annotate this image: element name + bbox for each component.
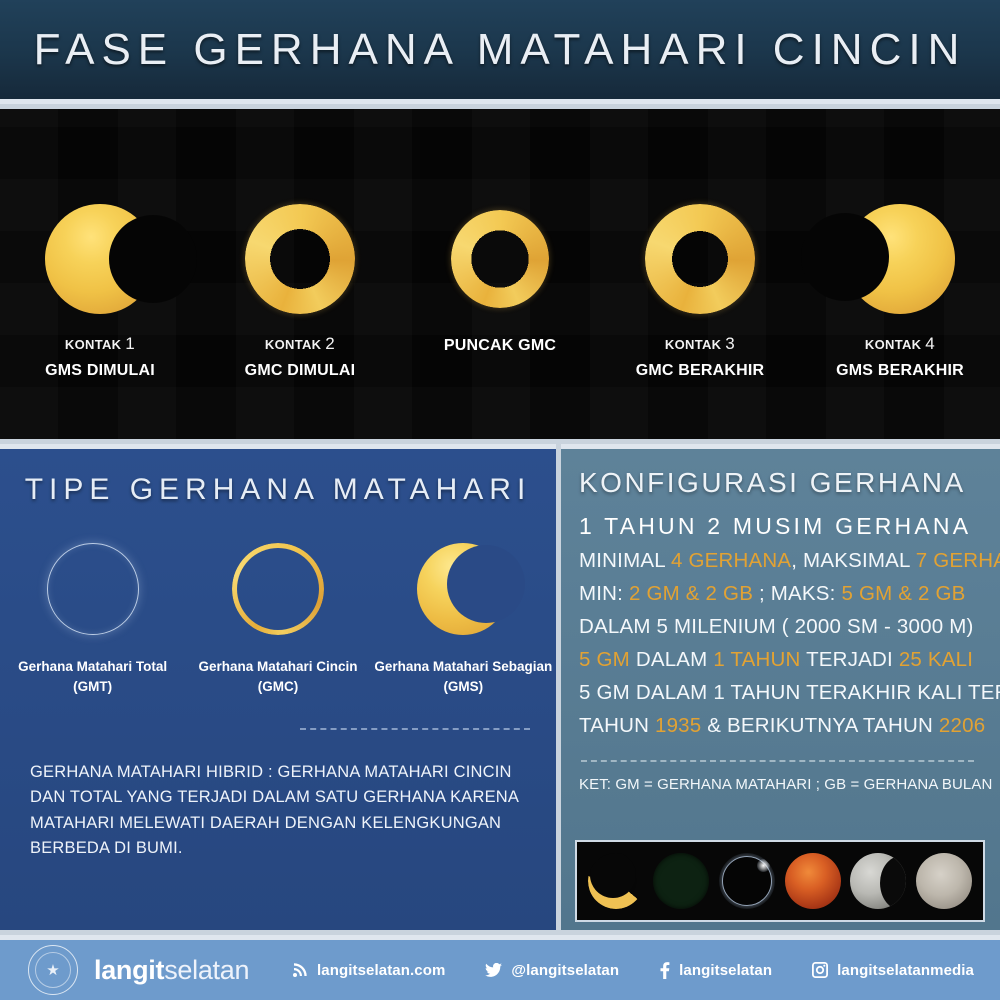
left-panel-divider (300, 728, 530, 730)
hybrid-eclipse-note: GERHANA MATAHARI HIBRID : GERHANA MATAHA… (30, 760, 530, 862)
thumbnail-annular-solar-ring (653, 853, 709, 909)
gold-ring-icon (232, 543, 324, 635)
phase-kontak-label: KONTAK (665, 337, 721, 352)
eclipse-configuration-panel: KONFIGURASI GERHANA 1 TAHUN 2 MUSIM GERH… (561, 444, 1000, 930)
thumbnail-full-moon (916, 853, 972, 909)
text-part: & BERIKUTNYA TAHUN (701, 714, 939, 737)
text-part: DALAM (630, 648, 713, 671)
phase-item-5: KONTAK 4 GMS BERAKHIR (800, 109, 1000, 439)
phase-name: GMS BERAKHIR (836, 359, 964, 382)
eclipse-types-list: Gerhana Matahari Total (GMT) Gerhana Mat… (0, 543, 556, 698)
text-part: TERJADI (801, 648, 899, 671)
phase-number: 1 (125, 334, 135, 353)
eclipse-type-abbr: (GMC) (198, 677, 357, 697)
social-link-twitter[interactable]: @langitselatan (485, 962, 619, 979)
annular-ring-thick-icon (245, 204, 355, 314)
gold-crescent-icon (417, 543, 509, 635)
footer-bar: ★ langitselatan langitselatan.com @langi… (0, 935, 1000, 1000)
highlight-value: 2206 (939, 714, 985, 737)
config-line-min-max-eclipses: MINIMAL 4 GERHANA, MAKSIMAL 7 GERHANA (579, 549, 1000, 573)
eclipse-types-panel: TIPE GERHANA MATAHARI Gerhana Matahari T… (0, 444, 556, 930)
social-label: langitselatan.com (317, 962, 445, 979)
eclipse-type-name: Gerhana Matahari Cincin (198, 657, 357, 677)
seal-inner-emblem: ★ (35, 952, 71, 988)
phase-item-3: PUNCAK GMC (400, 109, 600, 439)
highlight-value: 5 GM & 2 GB (841, 582, 965, 605)
highlight-value: 5 GM (579, 648, 630, 671)
facebook-icon (659, 962, 670, 979)
social-link-facebook[interactable]: langitselatan (659, 962, 772, 979)
eclipse-type-gmc: Gerhana Matahari Cincin (GMC) (185, 543, 370, 698)
annular-ring-thin-icon (445, 204, 555, 314)
eclipse-types-title: TIPE GERHANA MATAHARI (0, 473, 556, 507)
config-line-last-occurrence: 5 GM DALAM 1 TAHUN TERAKHIR KALI TERJADI (579, 681, 1000, 705)
header-bar: FASE GERHANA MATAHARI CINCIN (0, 0, 1000, 104)
annular-ring-offset-icon (645, 204, 755, 314)
phase-kontak-label: KONTAK (865, 337, 921, 352)
page-title: FASE GERHANA MATAHARI CINCIN (34, 25, 967, 75)
thumbnail-total-solar-diamond-ring (719, 853, 775, 909)
highlight-value: 25 KALI (899, 648, 973, 671)
social-link-website[interactable]: langitselatan.com (292, 962, 445, 979)
social-label: langitselatan (679, 962, 772, 979)
text-part: ; MAKS: (753, 582, 841, 605)
eclipse-type-name: Gerhana Matahari Total (18, 657, 167, 677)
highlight-value: 2 GM & 2 GB (629, 582, 753, 605)
eclipse-type-abbr: (GMS) (374, 677, 552, 697)
twitter-icon (485, 963, 502, 978)
eclipse-type-abbr: (GMT) (18, 677, 167, 697)
sun-partial-bite-right-icon (45, 204, 155, 314)
eclipse-phases-section: KONTAK 1 GMS DIMULAI KONTAK 2 GMC DIMULA… (0, 109, 1000, 439)
config-line-millennium: DALAM 5 MILENIUM ( 2000 SM - 3000 M) (579, 615, 1000, 639)
phase-name: PUNCAK GMC (444, 334, 556, 357)
highlight-value: 1935 (655, 714, 701, 737)
social-link-instagram[interactable]: langitselatanmedia (812, 962, 974, 979)
social-label: @langitselatan (511, 962, 619, 979)
eclipse-type-gms: Gerhana Matahari Sebagian (GMS) (371, 543, 556, 698)
rss-icon (292, 962, 308, 978)
infographic-page: FASE GERHANA MATAHARI CINCIN KONTAK 1 GM… (0, 0, 1000, 1000)
phase-name: GMC DIMULAI (245, 359, 356, 382)
langitselatan-seal-logo: ★ (28, 945, 78, 995)
config-line-min-max-types: MIN: 2 GM & 2 GB ; MAKS: 5 GM & 2 GB (579, 582, 1000, 606)
configuration-title: KONFIGURASI GERHANA (579, 467, 1000, 499)
brand-wordmark: langitselatan (94, 955, 249, 986)
corona-circle-icon (47, 543, 139, 635)
eclipse-type-gmt: Gerhana Matahari Total (GMT) (0, 543, 185, 698)
right-panel-divider (581, 760, 974, 762)
highlight-value: 7 GERHANA (916, 549, 1000, 572)
phase-name: GMC BERAKHIR (636, 359, 765, 382)
brand-light-part: selatan (164, 955, 249, 985)
phase-item-2: KONTAK 2 GMC DIMULAI (200, 109, 400, 439)
phase-item-1: KONTAK 1 GMS DIMULAI (0, 109, 200, 439)
text-part: TAHUN (579, 714, 655, 737)
config-line-years: TAHUN 1935 & BERIKUTNYA TAHUN 2206 (579, 714, 1000, 738)
config-line-seasons: 1 TAHUN 2 MUSIM GERHANA (579, 513, 1000, 540)
text-part: MIN: (579, 582, 629, 605)
config-line-5gm-frequency: 5 GM DALAM 1 TAHUN TERJADI 25 KALI (579, 648, 1000, 672)
brand-bold-part: langit (94, 955, 164, 985)
phase-kontak-label: KONTAK (265, 337, 321, 352)
thumbnail-partial-solar-crescent (588, 853, 644, 909)
eclipse-type-name: Gerhana Matahari Sebagian (374, 657, 552, 677)
highlight-value: 4 GERHANA (671, 549, 791, 572)
sun-partial-bite-left-icon (845, 204, 955, 314)
phase-number: 3 (725, 334, 735, 353)
eclipse-photo-strip (575, 840, 985, 922)
thumbnail-partial-lunar (850, 853, 906, 909)
instagram-icon (812, 962, 828, 978)
thumbnail-total-lunar-red (785, 853, 841, 909)
text-part: MINIMAL (579, 549, 671, 572)
phase-kontak-label: KONTAK (65, 337, 121, 352)
text-part: , MAKSIMAL (791, 549, 915, 572)
phase-number: 4 (925, 334, 935, 353)
legend-abbreviations: KET: GM = GERHANA MATAHARI ; GB = GERHAN… (579, 776, 1000, 793)
social-label: langitselatanmedia (837, 962, 974, 979)
phase-item-4: KONTAK 3 GMC BERAKHIR (600, 109, 800, 439)
social-links: langitselatan.com @langitselatan langits… (292, 962, 974, 979)
phase-name: GMS DIMULAI (45, 359, 155, 382)
highlight-value: 1 TAHUN (713, 648, 800, 671)
phase-number: 2 (325, 334, 335, 353)
